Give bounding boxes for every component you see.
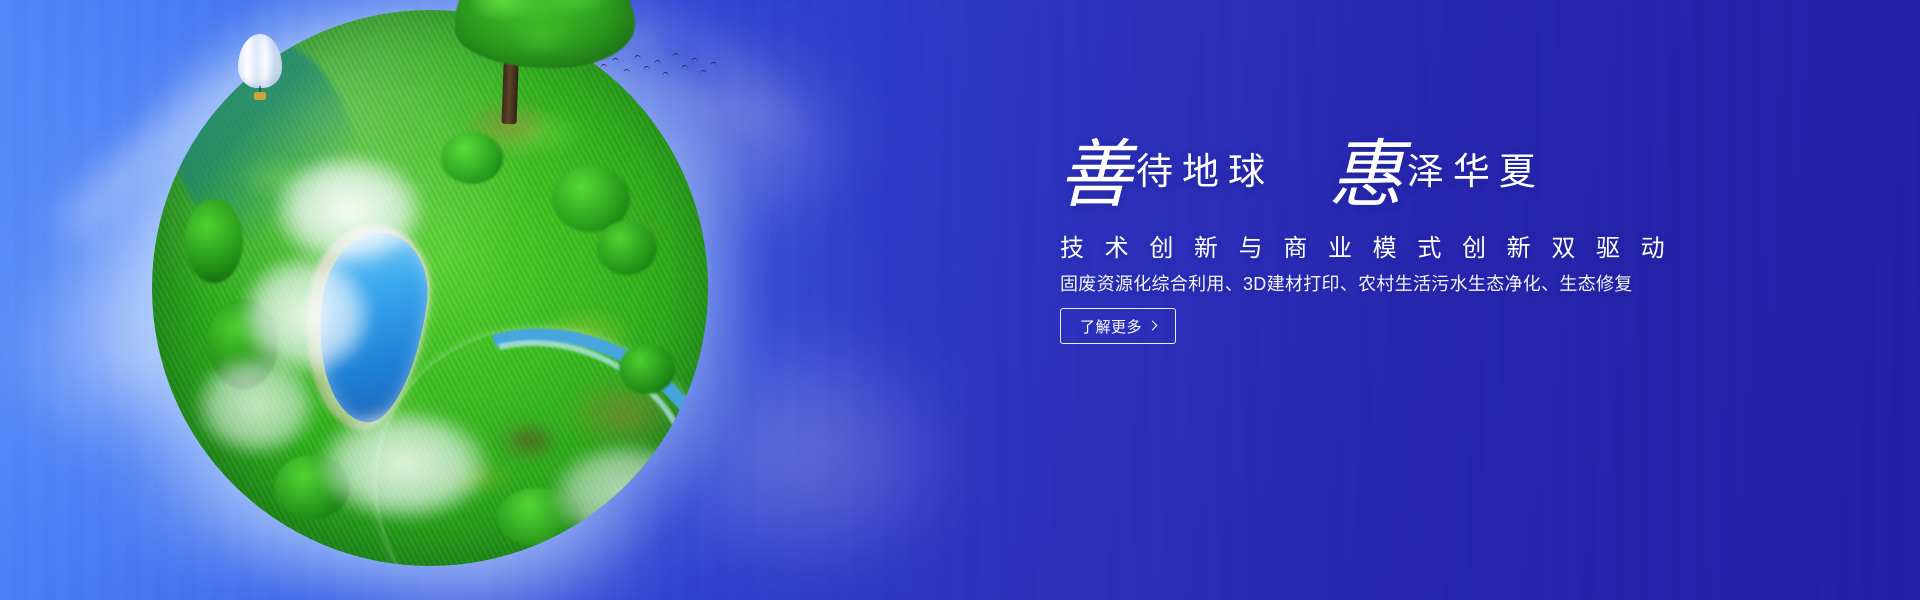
hero-banner: 善待地球 惠泽华夏 技 术 创 新 与 商 业 模 式 创 新 双 驱 动 固废… <box>0 0 1920 600</box>
bird-icon <box>700 70 708 76</box>
banner-content: 善待地球 惠泽华夏 技 术 创 新 与 商 业 模 式 创 新 双 驱 动 固废… <box>1058 0 1798 600</box>
tree-cluster <box>619 344 675 394</box>
surface-cloud <box>274 155 424 265</box>
bird-icon <box>634 55 642 61</box>
bird-icon <box>600 64 608 70</box>
tree-cluster <box>597 221 657 275</box>
headline-rest-1: 待地球 <box>1136 150 1274 193</box>
bird-icon <box>654 60 662 66</box>
headline-lead-char-1: 善 <box>1058 132 1132 218</box>
bird-icon <box>623 69 631 75</box>
learn-more-button[interactable]: 了解更多 <box>1060 308 1176 344</box>
bird-icon <box>681 65 689 71</box>
learn-more-label: 了解更多 <box>1080 316 1142 337</box>
banner-subtitle: 技 术 创 新 与 商 业 模 式 创 新 双 驱 动 <box>1060 228 1672 263</box>
bird-icon <box>691 58 699 64</box>
surface-cloud <box>319 410 489 520</box>
headline-lead-char-2: 惠 <box>1329 132 1403 218</box>
balloon-envelope <box>238 34 282 88</box>
surface-cloud <box>552 444 702 544</box>
chevron-right-icon <box>1148 320 1158 330</box>
surface-cloud <box>196 355 316 455</box>
bird-icon <box>672 53 680 59</box>
bird-icon <box>662 72 670 78</box>
bird-icon <box>612 58 620 64</box>
banner-description: 固废资源化综合利用、3D建材打印、农村生活污水生态净化、生态修复 <box>1060 270 1633 296</box>
hot-air-balloon-icon <box>238 34 282 108</box>
headline-phrase-1: 善待地球 <box>1058 138 1274 212</box>
headline-phrase-2: 惠泽华夏 <box>1329 138 1545 212</box>
balloon-basket <box>254 92 266 100</box>
headline-rest-2: 泽华夏 <box>1407 150 1545 193</box>
bird-flock-icon <box>596 48 726 88</box>
bird-icon <box>710 62 718 68</box>
tree-cluster <box>185 199 243 283</box>
bird-icon <box>643 66 651 72</box>
banner-headline: 善待地球 惠泽华夏 <box>1058 138 1545 212</box>
